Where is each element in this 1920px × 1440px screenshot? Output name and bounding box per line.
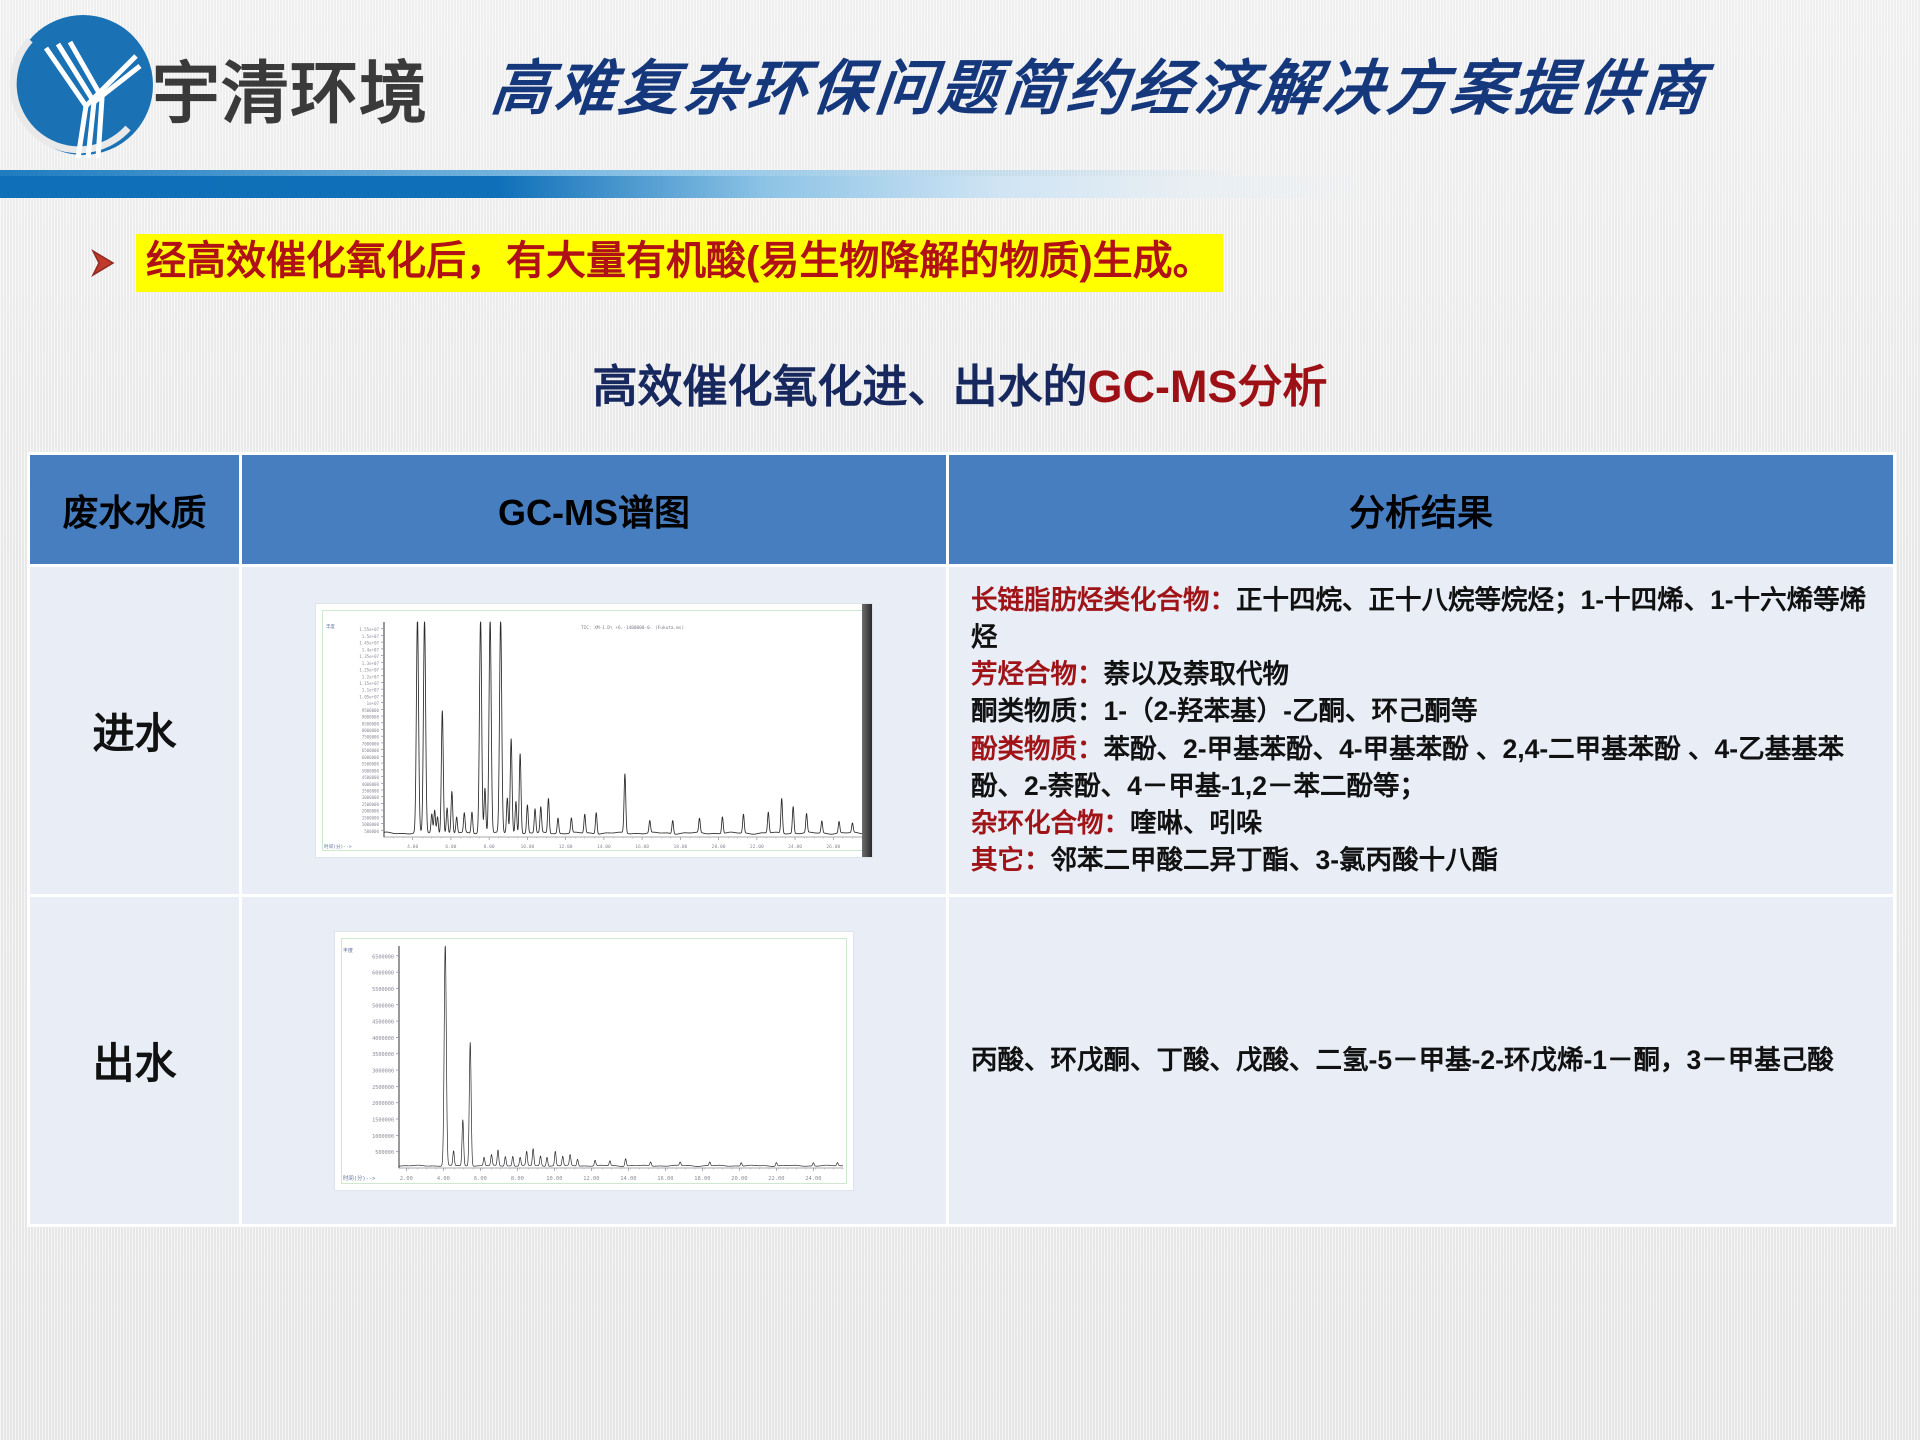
analysis-head: 杂环化合物：: [971, 808, 1130, 838]
analysis-body: 邻苯二甲酸二异丁酯、3-氯丙酸十八酯: [1051, 845, 1499, 875]
company-circle-y-logo-icon: [8, 10, 158, 160]
bullet-row: 经高效催化氧化后，有大量有机酸(易生物降解的物质)生成。: [86, 234, 1223, 292]
slide-header: 宇清环境 高难复杂环保问题简约经济解决方案提供商: [0, 0, 1920, 180]
effluent-analysis-text: 丙酸、环戊酮、丁酸、戊酸、二氢-5－甲基-2-环戊烯-1－酮，3－甲基己酸: [948, 896, 1895, 1226]
page-title: 高效催化氧化进、出水的GC-MS分析: [0, 350, 1920, 415]
arrow-bullet-icon: [86, 246, 120, 280]
table-header-row: 废水水质 GC-MS谱图 分析结果: [29, 454, 1895, 566]
analysis-body: 酮类物质：1-（2-羟苯基）-乙酮、环己酮等: [971, 696, 1477, 726]
company-slogan: 高难复杂环保问题简约经济解决方案提供商: [487, 40, 1712, 127]
analysis-head: 其它：: [971, 845, 1051, 875]
header-divider: [0, 176, 1920, 198]
analysis-body: 喹啉、吲哚: [1130, 808, 1263, 838]
analysis-head: 芳烃合物：: [971, 659, 1104, 689]
page-title-prefix: 高效催化氧化进、出水的: [592, 361, 1087, 412]
influent-analysis-text: 长链脂肪烃类化合物：正十四烷、正十八烷等烷烃；1-十四烯、1-十六烯等烯烃 芳烃…: [948, 566, 1895, 896]
effluent-chromatogram-cell: 5000001000000150000020000002500000300000…: [241, 896, 948, 1226]
influent-gcms-chromatogram: 5000001000000150000020000002500000300000…: [315, 603, 873, 858]
analysis-body: 丙酸、环戊酮、丁酸、戊酸、二氢-5－甲基-2-环戊烯-1－酮，3－甲基己酸: [971, 1045, 1834, 1075]
column-header-water-quality: 废水水质: [29, 454, 241, 566]
gcms-analysis-table: 废水水质 GC-MS谱图 分析结果 进水 5000001000000150000…: [27, 452, 1896, 1227]
column-header-gcms-spectrum: GC-MS谱图: [241, 454, 948, 566]
company-name: 宇清环境: [152, 38, 428, 137]
row-label-influent: 进水: [29, 566, 241, 896]
analysis-head: 酚类物质：: [971, 734, 1104, 764]
effluent-gcms-chromatogram: 5000001000000150000020000002500000300000…: [334, 931, 854, 1191]
table-row: 出水 5000001000000150000020000002500000300…: [29, 896, 1895, 1226]
analysis-body: 萘以及萘取代物: [1104, 659, 1290, 689]
row-label-effluent: 出水: [29, 896, 241, 1226]
analysis-head: 长链脂肪烃类化合物：: [971, 585, 1236, 615]
bullet-text: 经高效催化氧化后，有大量有机酸(易生物降解的物质)生成。: [136, 234, 1223, 292]
table-row: 进水 5000001000000150000020000002500000300…: [29, 566, 1895, 896]
figure-scrollbar[interactable]: [862, 604, 872, 857]
slide-canvas: 宇清环境 高难复杂环保问题简约经济解决方案提供商 经高效催化氧化后，有大量有机酸…: [0, 0, 1920, 1440]
page-title-accent: GC-MS分析: [1088, 361, 1328, 412]
column-header-analysis-result: 分析结果: [948, 454, 1895, 566]
influent-chromatogram-cell: 5000001000000150000020000002500000300000…: [241, 566, 948, 896]
